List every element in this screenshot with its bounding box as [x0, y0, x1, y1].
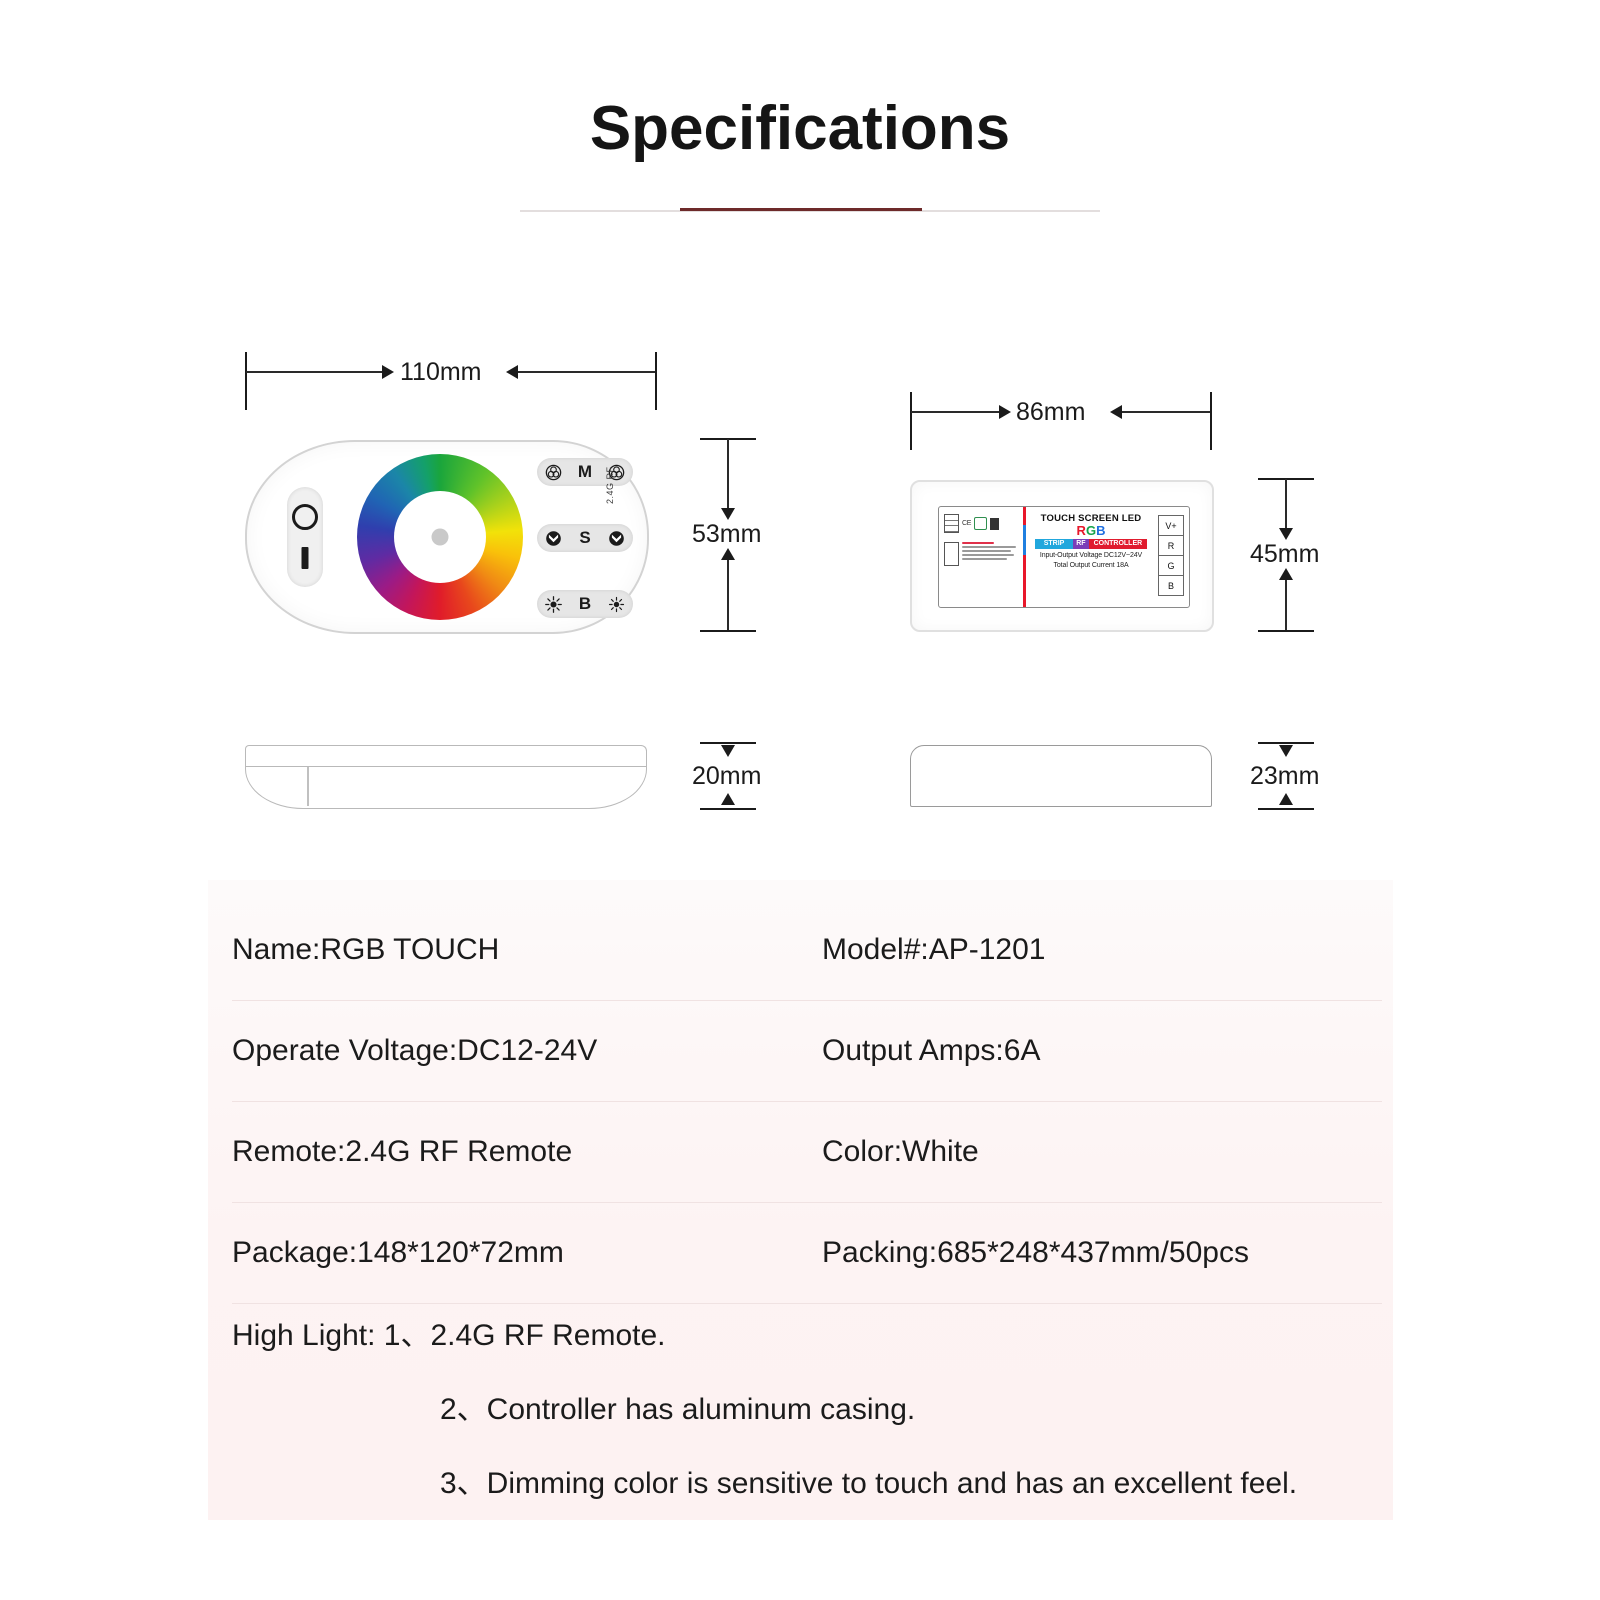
- remote-thickness-arrow-bottom: [721, 793, 735, 805]
- remote-width-lead-right: [518, 371, 655, 373]
- rgb-wordmark: RGB: [1035, 524, 1147, 538]
- rgb-g: G: [1086, 523, 1096, 538]
- terminal-block: V+ R G B: [1158, 515, 1184, 596]
- warning-line: [962, 550, 1011, 552]
- power-off-icon: [292, 504, 318, 530]
- controller-width-lead-right: [1122, 411, 1210, 413]
- controller-thickness-arrow-bottom: [1279, 793, 1293, 805]
- rf-mark-label: 2.4G RF: [605, 466, 615, 504]
- controller-height-label: 45mm: [1250, 540, 1319, 569]
- remote-width-tick-right: [655, 352, 657, 410]
- remote-height-tick-bottom: [700, 630, 756, 632]
- controller-height-arrow-top: [1279, 528, 1293, 540]
- color-wheel-center-dot: [432, 529, 449, 546]
- controller-width-arrow-right: [1110, 405, 1122, 419]
- highlight-line-3: 3、Dimming color is sensitive to touch an…: [440, 1458, 1412, 1502]
- remote-width-arrow-right: [506, 365, 518, 379]
- brightness-button-group[interactable]: B: [537, 590, 633, 618]
- warning-text-block: [944, 542, 1018, 566]
- remote-width-label: 110mm: [400, 358, 482, 387]
- remote-height-lead-top: [727, 439, 729, 511]
- controller-width-arrow-left: [999, 405, 1011, 419]
- label-red-stripe: [1023, 507, 1026, 607]
- terminal-vplus: V+: [1158, 515, 1184, 535]
- remote-side-seam: [307, 767, 309, 806]
- page-title: Specifications: [0, 96, 1600, 161]
- banner-controller-label: CONTROLLER: [1089, 539, 1147, 549]
- controller-height-lead-bottom: [1285, 578, 1287, 630]
- page-header: Specifications: [0, 96, 1600, 161]
- rohs-icon: [974, 517, 987, 530]
- remote-side-view: [245, 745, 645, 807]
- controller-width-tick-left: [910, 392, 912, 450]
- controller-height-arrow-bottom: [1279, 568, 1293, 580]
- controller-side-view: [910, 745, 1212, 807]
- highlight-line-2: 2、Controller has aluminum casing.: [440, 1384, 1412, 1428]
- remote-thickness-tick-bottom: [700, 808, 756, 810]
- table-row: Remote:2.4G RF Remote Color:White: [232, 1102, 1382, 1203]
- terminal-g: G: [1158, 555, 1184, 575]
- controller-top-view: CE TOUCH SCREEN LED RG: [910, 480, 1214, 632]
- spec-voltage: Operate Voltage:DC12-24V: [232, 1034, 822, 1068]
- controller-label: CE TOUCH SCREEN LED RG: [938, 506, 1190, 608]
- mode-button-group[interactable]: M: [537, 458, 633, 486]
- speed-decrease-icon[interactable]: [545, 530, 562, 547]
- spec-model: Model#:AP-1201: [822, 933, 1382, 967]
- controller-thickness-arrow-top: [1279, 745, 1293, 757]
- ce-mark-label: CE: [962, 520, 971, 527]
- remote-side-upper: [245, 745, 647, 768]
- color-wheel-center: [394, 491, 486, 583]
- spec-packing: Packing:685*248*437mm/50pcs: [822, 1236, 1382, 1270]
- table-row: Package:148*120*72mm Packing:685*248*437…: [232, 1203, 1382, 1304]
- certification-row: CE: [944, 514, 1018, 533]
- warning-line: [962, 558, 1007, 560]
- strip-rf-controller-banner: STRIP RF CONTROLLER: [1035, 539, 1147, 549]
- barcode-icon: [944, 514, 959, 533]
- banner-strip-label: STRIP: [1035, 539, 1073, 549]
- table-row: Name:RGB TOUCH Model#:AP-1201: [232, 900, 1382, 1001]
- controller-thickness-label: 23mm: [1250, 762, 1319, 791]
- remote-width-lead-left: [246, 371, 384, 373]
- spec-remote: Remote:2.4G RF Remote: [232, 1135, 822, 1169]
- brightness-decrease-icon[interactable]: [545, 596, 562, 613]
- highlights-section: High Light: 1、2.4G RF Remote. 2、Controll…: [232, 1310, 1412, 1532]
- remote-top-view: M S: [245, 440, 649, 634]
- controller-label-text: TOUCH SCREEN LED RGB STRIP RF CONTROLLER…: [1035, 513, 1147, 569]
- brightness-increase-icon[interactable]: [608, 596, 625, 613]
- controller-current-spec: Total Output Current 18A: [1035, 562, 1147, 569]
- controller-width-lead-left: [911, 411, 1001, 413]
- rgb-b: B: [1096, 523, 1105, 538]
- banner-rf-label: RF: [1073, 539, 1089, 549]
- mode-decrease-icon[interactable]: [545, 464, 562, 481]
- power-on-icon: [302, 547, 309, 569]
- spec-package: Package:148*120*72mm: [232, 1236, 822, 1270]
- weee-bin-icon: [990, 518, 999, 530]
- speed-increase-icon[interactable]: [608, 530, 625, 547]
- terminal-r: R: [1158, 535, 1184, 555]
- speed-button-group[interactable]: S: [537, 524, 633, 552]
- remote-width-tick-left: [245, 352, 247, 410]
- color-wheel-icon[interactable]: [357, 454, 523, 620]
- terminal-b: B: [1158, 575, 1184, 596]
- controller-height-lead-top: [1285, 479, 1287, 531]
- brightness-button-label: B: [579, 594, 591, 614]
- controller-thickness-tick-top: [1258, 742, 1314, 744]
- power-button[interactable]: [287, 487, 323, 587]
- product-dimension-diagram: 110mm 53mm M: [0, 330, 1600, 870]
- warning-icon: [944, 542, 959, 566]
- speed-button-label: S: [579, 528, 590, 548]
- table-row: Operate Voltage:DC12-24V Output Amps:6A: [232, 1001, 1382, 1102]
- title-divider-accent: [680, 208, 922, 211]
- controller-width-tick-right: [1210, 392, 1212, 450]
- controller-height-tick-bottom: [1258, 630, 1314, 632]
- specifications-table: Name:RGB TOUCH Model#:AP-1201 Operate Vo…: [232, 900, 1382, 1304]
- remote-height-arrow-bottom: [721, 548, 735, 560]
- highlight-line-1: High Light: 1、2.4G RF Remote.: [232, 1310, 1412, 1354]
- controller-certification-area: CE: [944, 514, 1018, 566]
- warning-line: [962, 554, 1014, 556]
- mode-button-label: M: [578, 462, 592, 482]
- warning-lines: [962, 542, 1018, 566]
- spec-color: Color:White: [822, 1135, 1382, 1169]
- controller-width-label: 86mm: [1016, 398, 1085, 427]
- warning-line: [962, 542, 994, 544]
- spec-name: Name:RGB TOUCH: [232, 933, 822, 967]
- spec-amps: Output Amps:6A: [822, 1034, 1382, 1068]
- remote-width-arrow-left: [382, 365, 394, 379]
- remote-thickness-label: 20mm: [692, 762, 761, 791]
- remote-thickness-arrow-top: [721, 745, 735, 757]
- rgb-r: R: [1077, 523, 1086, 538]
- remote-height-label: 53mm: [692, 520, 761, 549]
- remote-thickness-tick-top: [700, 742, 756, 744]
- warning-line: [962, 546, 1016, 548]
- controller-voltage-spec: Input-Output Voltage DC12V~24V: [1035, 552, 1147, 559]
- remote-height-lead-bottom: [727, 558, 729, 630]
- remote-side-lower: [245, 766, 647, 809]
- controller-thickness-tick-bottom: [1258, 808, 1314, 810]
- remote-height-arrow-top: [721, 508, 735, 520]
- label-blue-stripe: [1023, 525, 1026, 555]
